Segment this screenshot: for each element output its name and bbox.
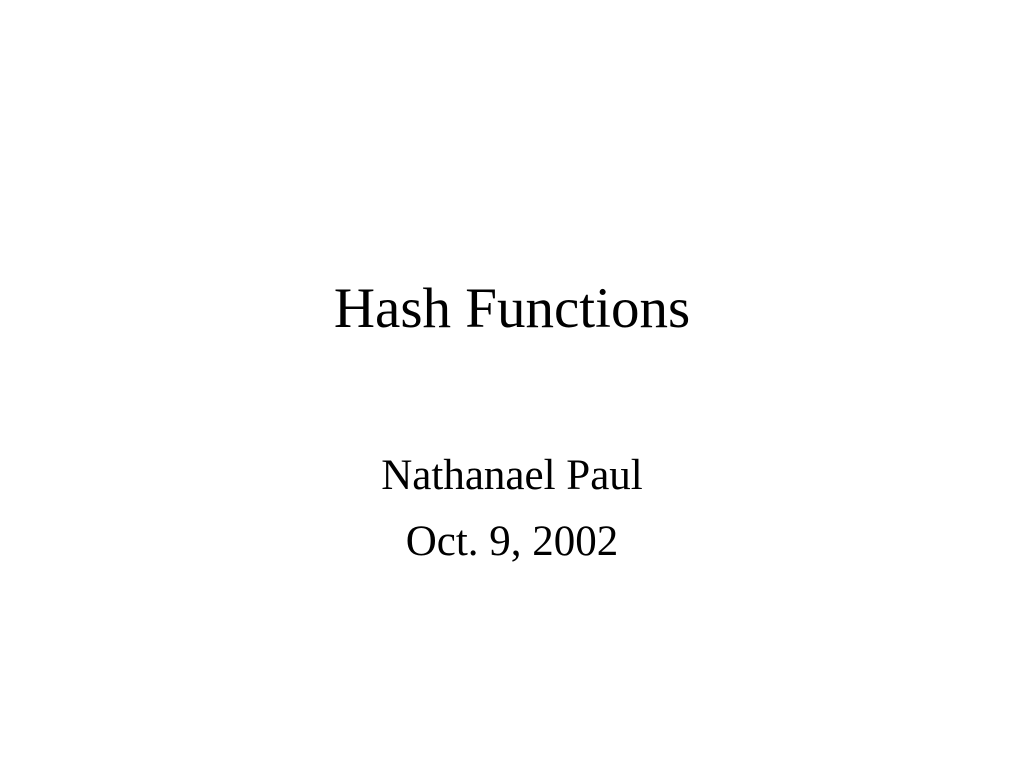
presentation-slide: Hash Functions Nathanael Paul Oct. 9, 20… bbox=[0, 0, 1024, 768]
date-line: Oct. 9, 2002 bbox=[0, 509, 1024, 575]
page-title: Hash Functions bbox=[0, 276, 1024, 342]
author-line: Nathanael Paul bbox=[0, 443, 1024, 509]
slide-subtitle-placeholder: Nathanael Paul Oct. 9, 2002 bbox=[0, 443, 1024, 575]
slide-title-placeholder: Hash Functions bbox=[0, 276, 1024, 342]
